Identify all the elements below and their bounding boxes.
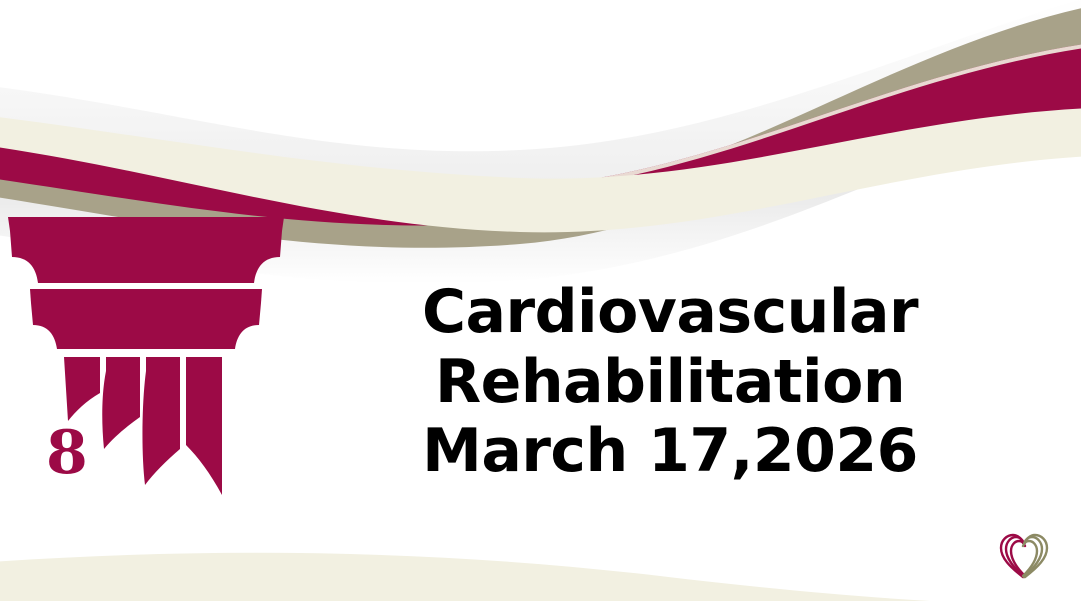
nested-heart-logo bbox=[996, 528, 1052, 584]
column-capital-upper bbox=[10, 231, 282, 283]
column-logo: 8 bbox=[0, 205, 300, 515]
column-capital-top-slab bbox=[8, 217, 284, 231]
title-line-1: Cardiovascular bbox=[330, 278, 1010, 348]
title-slide: 8 Cardiovascular Rehabilitation March 17… bbox=[0, 0, 1081, 601]
column-capital-lower bbox=[31, 303, 261, 349]
title-line-2: Rehabilitation bbox=[330, 348, 1010, 418]
column-capital-mid-slab bbox=[30, 289, 262, 303]
title-line-3: March 17,2026 bbox=[330, 417, 1010, 487]
slide-number: 8 bbox=[46, 418, 88, 488]
column-flute-4 bbox=[186, 357, 222, 495]
slide-title: Cardiovascular Rehabilitation March 17,2… bbox=[330, 278, 1010, 487]
bottom-cream-wave bbox=[0, 553, 1081, 601]
column-flute-3 bbox=[142, 357, 180, 485]
